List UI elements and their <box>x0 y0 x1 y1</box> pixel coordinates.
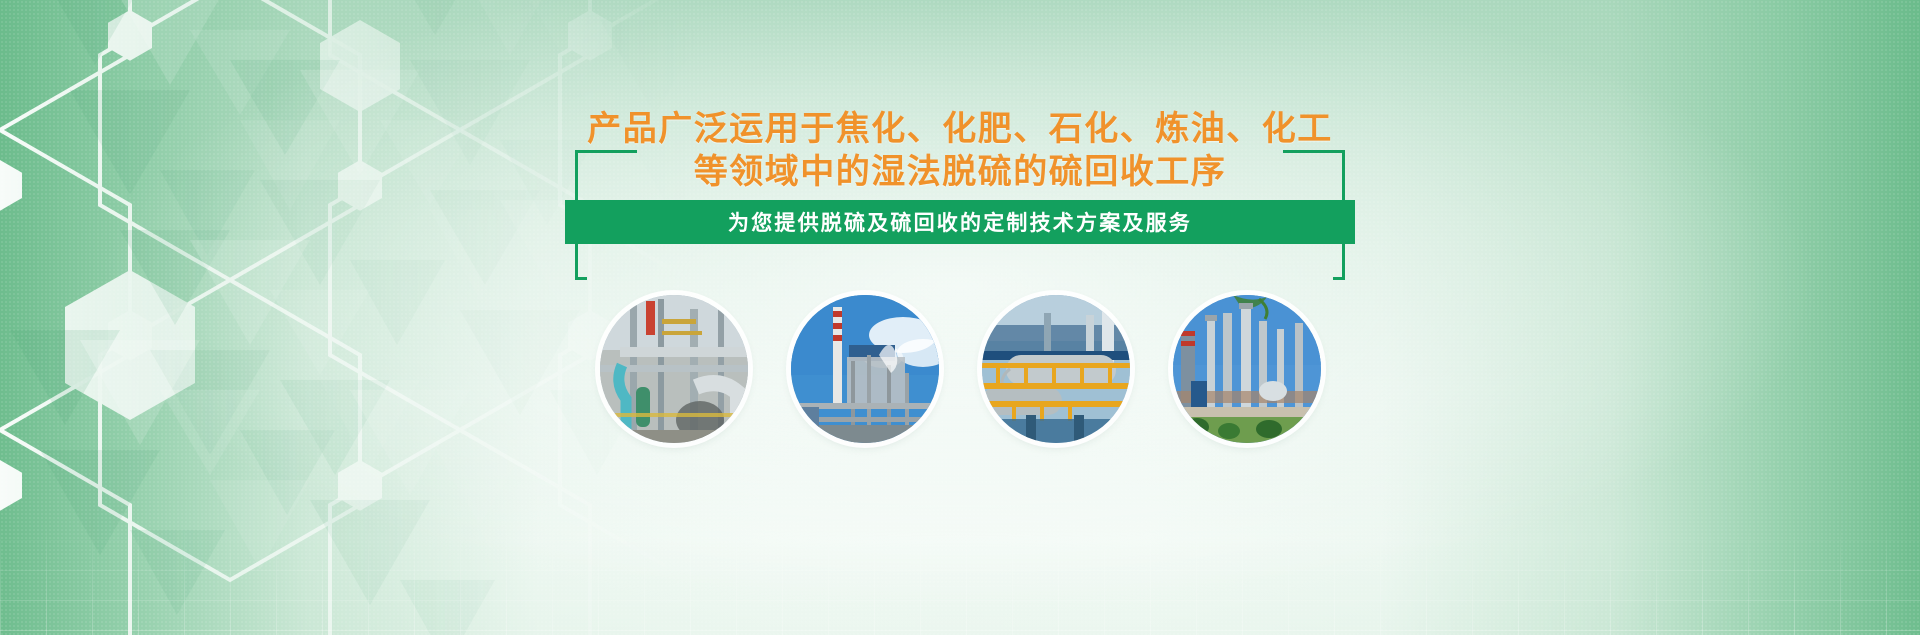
photo-refinery-columns <box>1173 295 1321 443</box>
photo-piping-plant <box>600 295 748 443</box>
promo-banner: 产品广泛运用于焦化、化肥、石化、炼油、化工 等领域中的湿法脱硫的硫回收工序 为您… <box>0 0 1920 635</box>
photo-chimney-plant <box>791 295 939 443</box>
photo-pressure-vessels <box>982 295 1130 443</box>
headline: 产品广泛运用于焦化、化肥、石化、炼油、化工 等领域中的湿法脱硫的硫回收工序 <box>0 108 1920 194</box>
photo-row <box>0 295 1920 443</box>
headline-line-1: 产品广泛运用于焦化、化肥、石化、炼油、化工 <box>0 108 1920 151</box>
subheadline-banner: 为您提供脱硫及硫回收的定制技术方案及服务 <box>565 200 1355 244</box>
subheadline-text: 为您提供脱硫及硫回收的定制技术方案及服务 <box>728 207 1192 237</box>
headline-line-2: 等领域中的湿法脱硫的硫回收工序 <box>0 151 1920 194</box>
